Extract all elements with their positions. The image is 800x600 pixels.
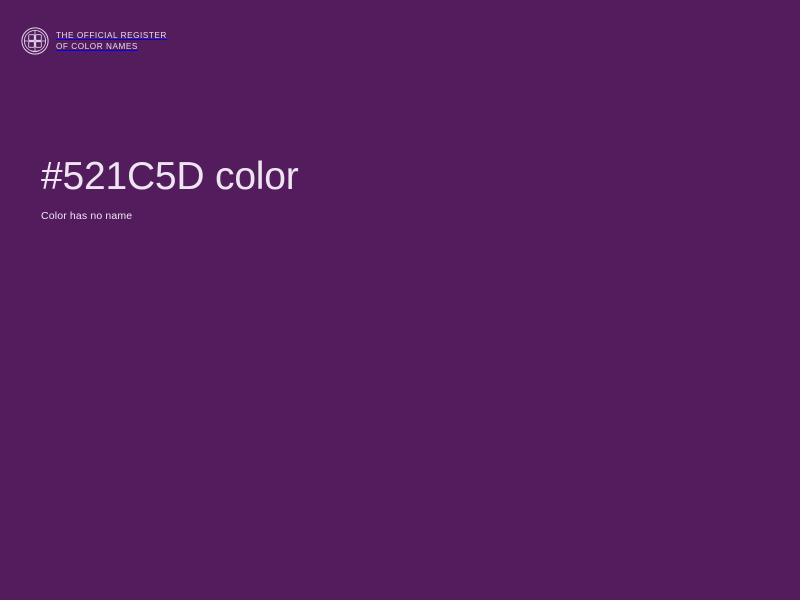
color-page: THE OFFICIAL REGISTER OF COLOR NAMES #52…: [0, 0, 800, 600]
brand-wordmark: THE OFFICIAL REGISTER OF COLOR NAMES: [56, 30, 167, 52]
brand-line-1: THE OFFICIAL REGISTER: [56, 31, 167, 42]
brand-logo-link[interactable]: THE OFFICIAL REGISTER OF COLOR NAMES: [21, 27, 167, 55]
page-title: #521C5D color: [41, 154, 299, 200]
color-name-status: Color has no name: [41, 209, 132, 223]
register-seal-icon: [21, 27, 49, 55]
brand-line-2: OF COLOR NAMES: [56, 42, 167, 53]
